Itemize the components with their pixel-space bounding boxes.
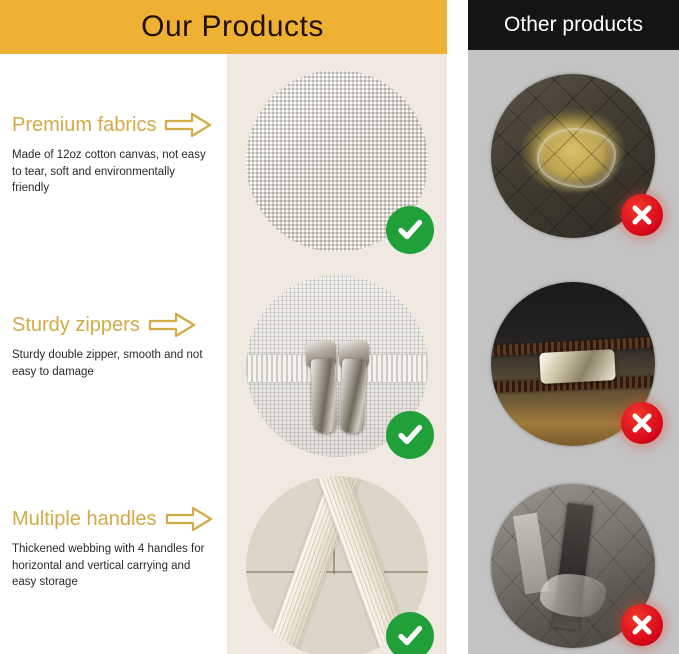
feature-row-sturdy-zippers: Sturdy zippers Sturdy double zipper, smo… [12, 312, 222, 380]
feature-text-panel: Premium fabrics Made of 12oz cotton canv… [0, 54, 227, 654]
arrow-right-outline-icon [148, 312, 196, 338]
feature-headline: Sturdy zippers [12, 312, 222, 338]
cross-icon [621, 194, 663, 236]
product-comparison-infographic: Our Products Other products Premium fabr… [0, 0, 679, 654]
check-icon [386, 206, 434, 254]
feature-headline: Premium fabrics [12, 112, 222, 138]
other-product-image-broken-zipper [491, 282, 655, 446]
feature-description: Thickened webbing with 4 handles for hor… [12, 541, 208, 591]
arrow-right-outline-icon [165, 506, 213, 532]
our-product-image-fabric [246, 70, 428, 252]
feature-title: Premium fabrics [12, 114, 156, 137]
our-products-title: Our Products [123, 10, 324, 44]
feature-title: Multiple handles [12, 508, 157, 531]
cross-icon [621, 604, 663, 646]
other-products-title: Other products [504, 13, 643, 37]
feature-row-multiple-handles: Multiple handles Thickened webbing with … [12, 506, 222, 591]
other-product-image-broken-handle [491, 484, 655, 648]
feature-row-premium-fabrics: Premium fabrics Made of 12oz cotton canv… [12, 112, 222, 197]
feature-title: Sturdy zippers [12, 314, 140, 337]
cross-icon [621, 402, 663, 444]
arrow-right-outline-icon [164, 112, 212, 138]
our-product-image-handles [246, 476, 428, 654]
feature-description: Made of 12oz cotton canvas, not easy to … [12, 147, 208, 197]
other-product-image-torn-fabric [491, 74, 655, 238]
other-products-image-panel [468, 50, 679, 654]
our-product-image-zipper [246, 275, 428, 457]
feature-headline: Multiple handles [12, 506, 222, 532]
our-products-image-panel [227, 54, 447, 654]
check-icon [386, 612, 434, 654]
check-icon [386, 411, 434, 459]
other-products-header: Other products [468, 0, 679, 50]
feature-description: Sturdy double zipper, smooth and not eas… [12, 347, 208, 380]
our-products-header: Our Products [0, 0, 447, 54]
